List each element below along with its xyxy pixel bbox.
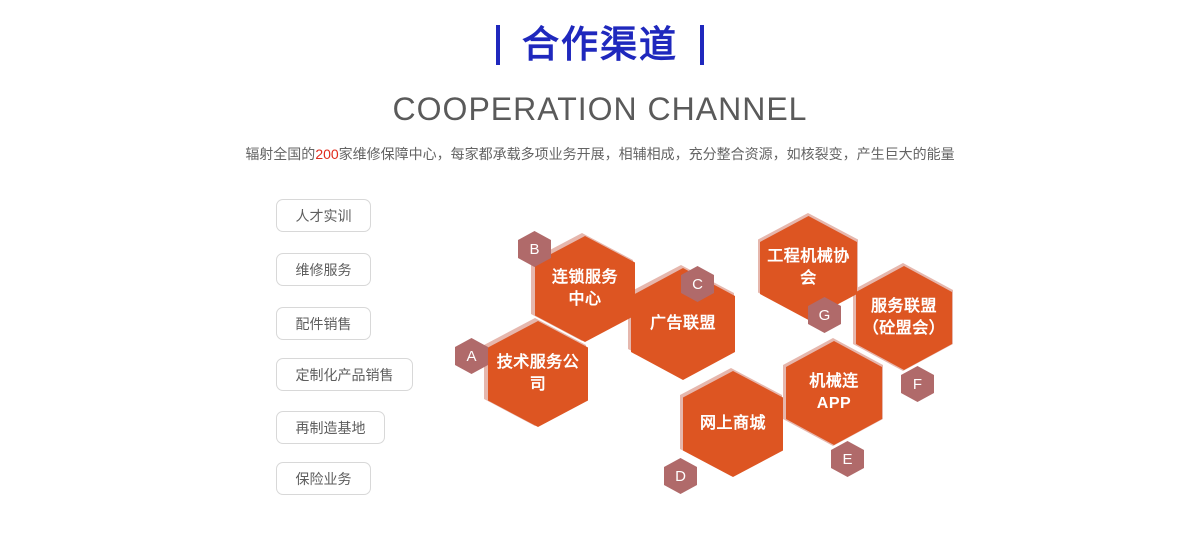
- hex-badge-a[interactable]: A: [455, 338, 488, 374]
- hex-label-line1: 机械连: [809, 371, 859, 393]
- hex-label-line1: 连锁服务: [552, 267, 618, 289]
- hex-label-line2: （砼盟会）: [863, 318, 946, 340]
- hex-label-line1: 服务联盟: [863, 296, 946, 318]
- hex-badge-label: F: [913, 376, 922, 393]
- hex-label-line2: APP: [809, 393, 859, 415]
- hex-badge-e[interactable]: E: [831, 441, 864, 477]
- hex-label-line1: 工程机械协: [767, 246, 850, 268]
- hex-label-line2: 中心: [552, 289, 618, 311]
- hex-label-line2: 会: [767, 268, 850, 290]
- cooperation-channel-page: 合作渠道 COOPERATION CHANNEL 辐射全国的200家维修保障中心…: [0, 0, 1200, 533]
- hex-badge-label: D: [675, 468, 686, 485]
- hex-badge-label: G: [819, 307, 831, 324]
- hex-badge-label: E: [842, 451, 852, 468]
- hex-label: 网上商城: [700, 413, 766, 435]
- hex-badge-label: A: [466, 348, 476, 365]
- hex-badge-d[interactable]: D: [664, 458, 697, 494]
- hex-badge-label: B: [529, 241, 539, 258]
- hexagon-diagram: 连锁服务 中心 B 技术服务公司 A 广告联盟 C 网上商城 D: [0, 0, 1200, 533]
- hex-badge-label: C: [692, 276, 703, 293]
- hex-label: 技术服务公司: [488, 352, 588, 396]
- hex-badge-f[interactable]: F: [901, 366, 934, 402]
- hex-label: 广告联盟: [650, 313, 716, 335]
